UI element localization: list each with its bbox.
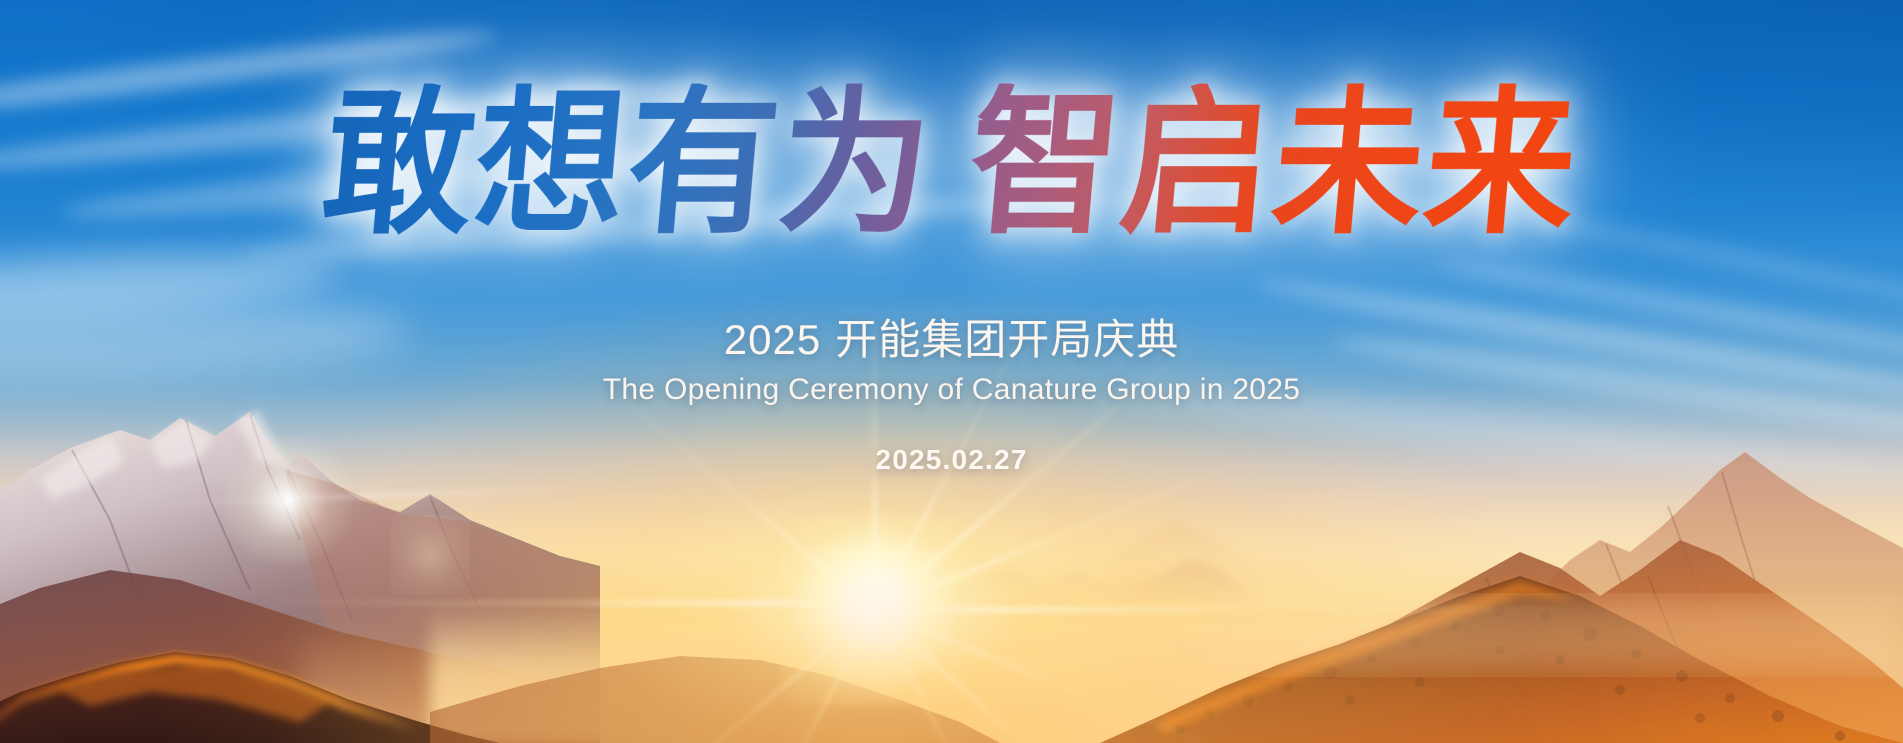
headline-calligraphy: 敢想有为智启未来	[318, 84, 1586, 243]
headline-area: 敢想有为智启未来	[0, 88, 1903, 238]
subtitle-english: The Opening Ceremony of Canature Group i…	[0, 372, 1903, 408]
lens-flare-ghost	[390, 515, 470, 595]
celebration-banner: 敢想有为智启未来 2025开能集团开局庆典 The Opening Ceremo…	[0, 0, 1903, 743]
subtitle-chinese-text: 开能集团开局庆典	[835, 316, 1179, 363]
event-date: 2025.02.27	[0, 444, 1903, 476]
subtitle-year: 2025	[724, 316, 821, 363]
headline-phrase-left: 敢想有为	[316, 70, 940, 257]
subtitle-chinese: 2025开能集团开局庆典	[0, 316, 1903, 364]
headline-phrase-right: 智启未来	[962, 70, 1586, 257]
sun-disc	[780, 515, 970, 705]
sun-ray	[875, 607, 1595, 614]
